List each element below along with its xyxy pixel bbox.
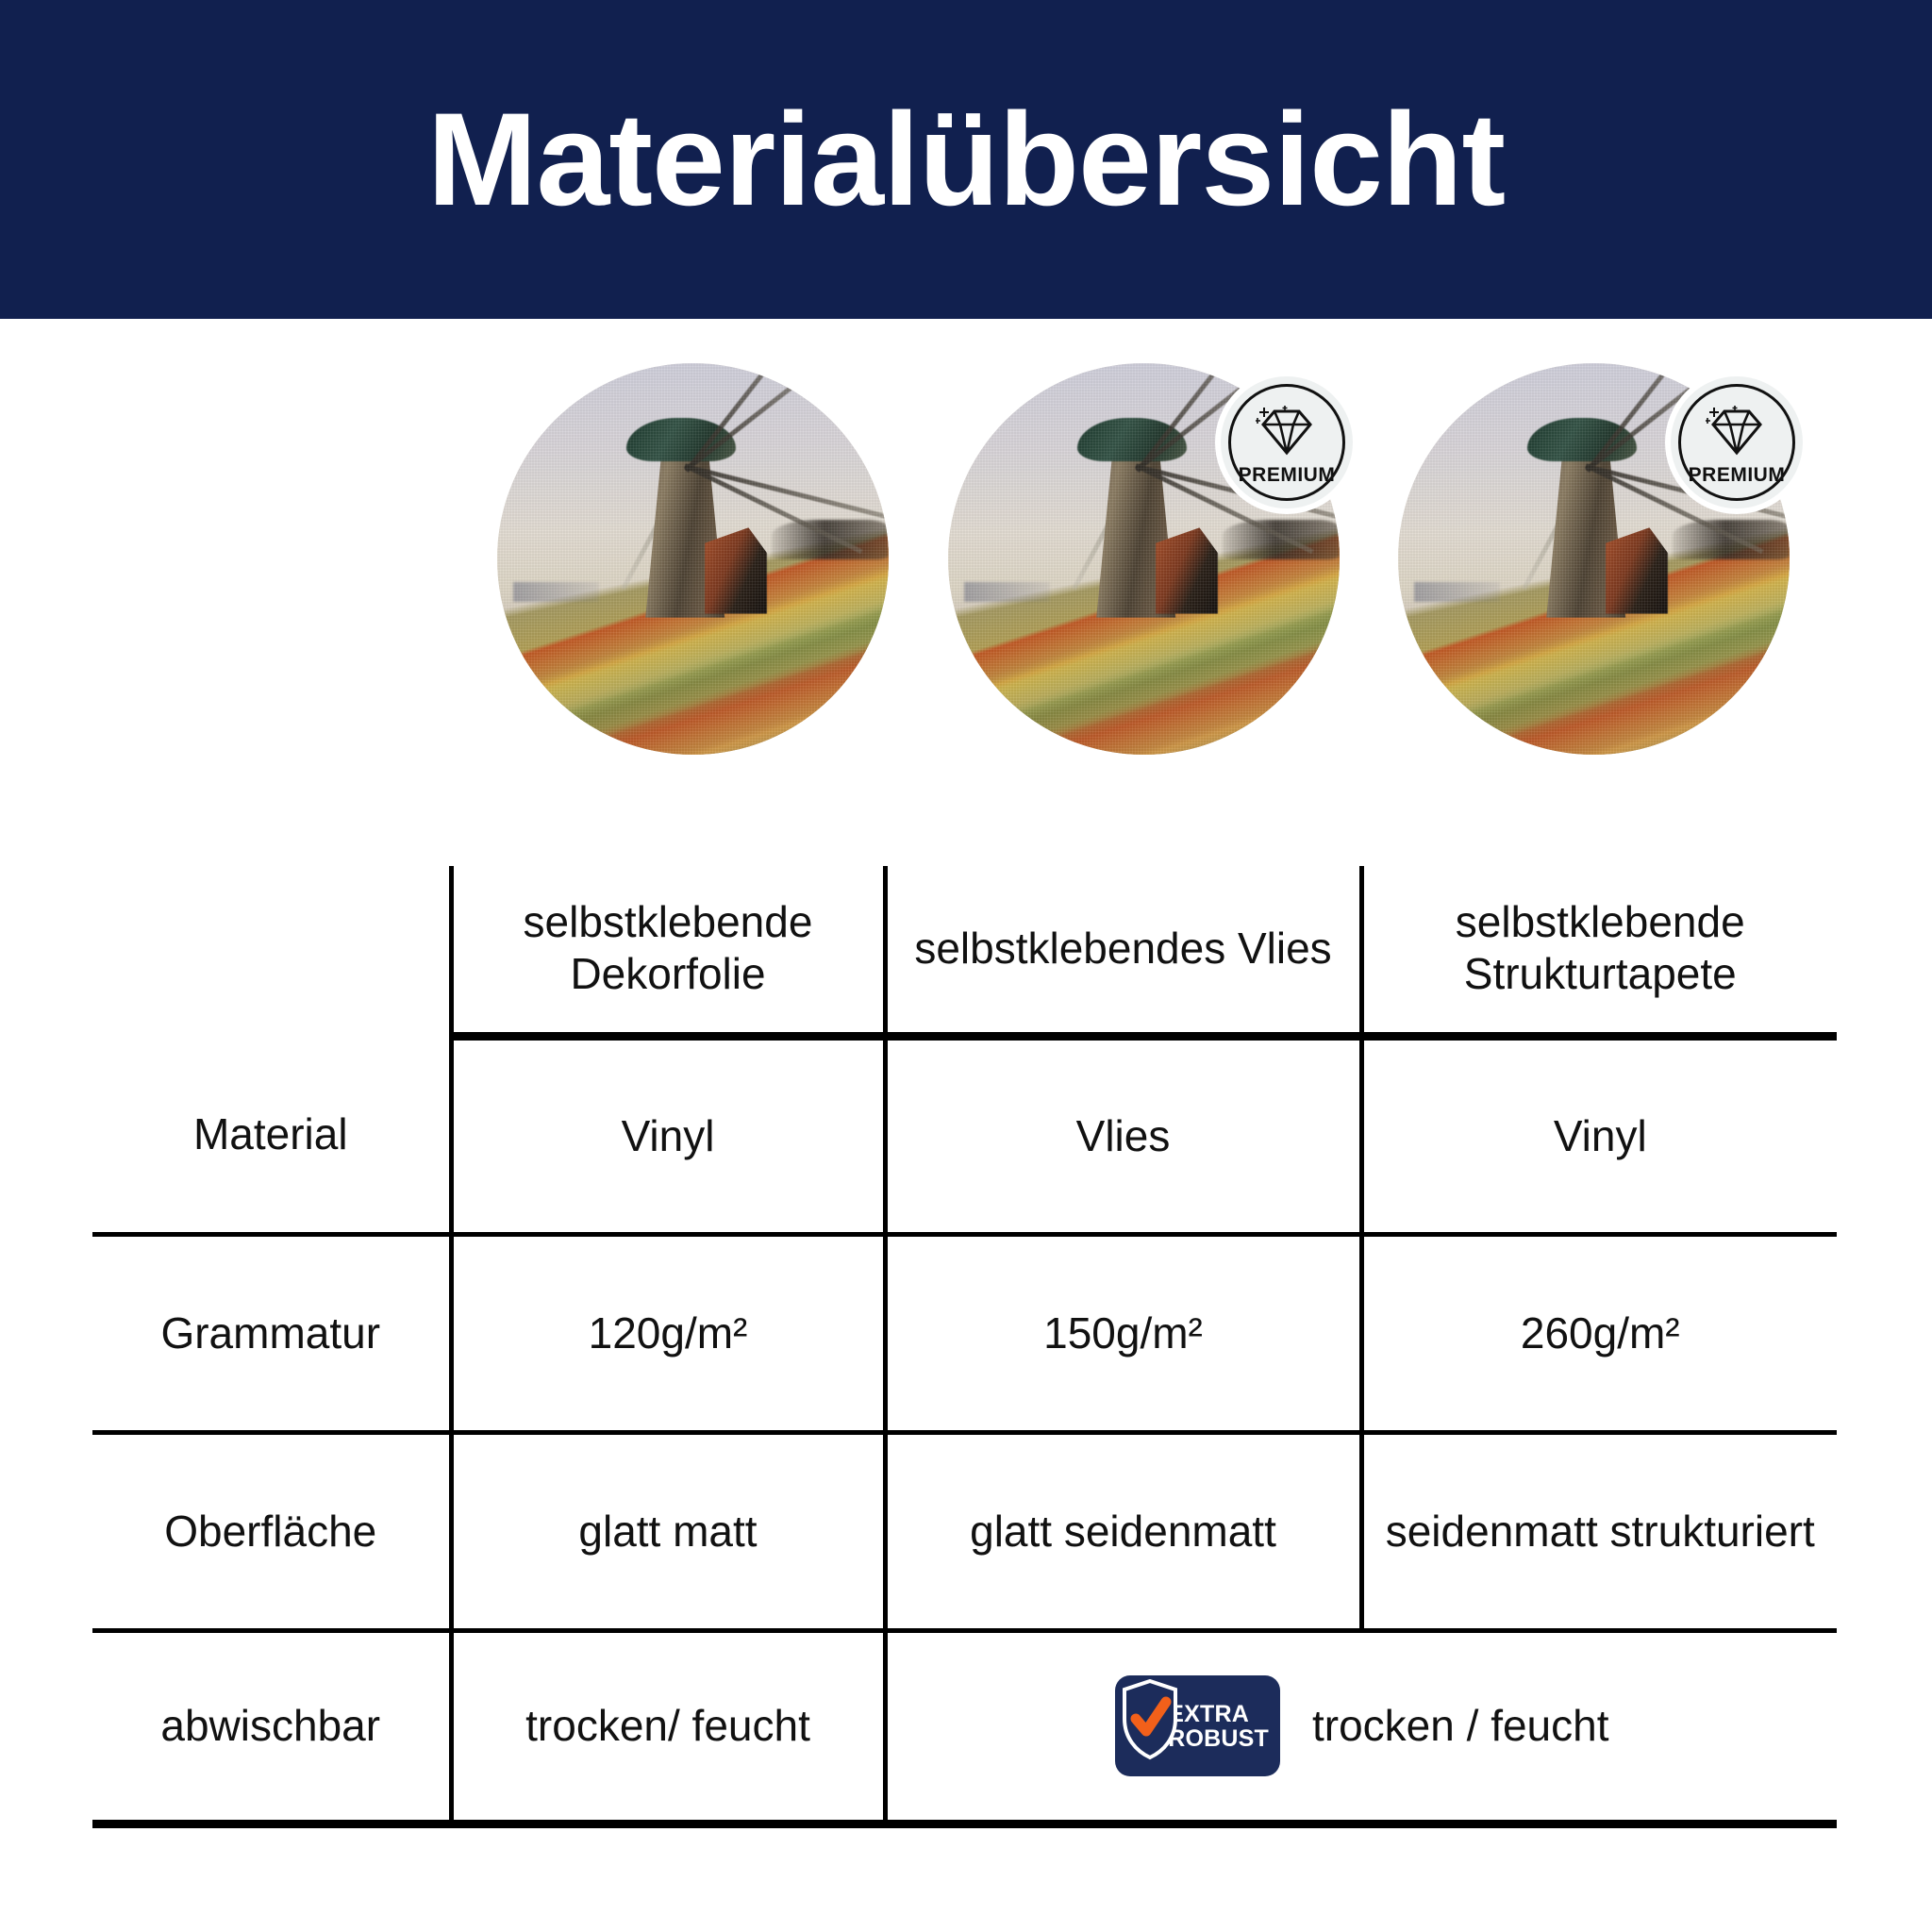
row-label-abwischbar: abwischbar (92, 1630, 451, 1824)
table-header-row: selbstklebende Dekorfolie selbstklebende… (92, 866, 1837, 1036)
mill-body (1543, 441, 1629, 618)
cell-oberflaeche-vlies: glatt seidenmatt (885, 1432, 1361, 1630)
horizon-detail (513, 582, 599, 602)
cell-text-line1: trocken/ feucht (463, 1700, 874, 1751)
cell-grammatur-strukturtapete: 260g/m² (1361, 1234, 1837, 1432)
row-label-material: Material (92, 1036, 451, 1234)
robust-line-1: EXTRA (1168, 1702, 1269, 1726)
extra-robust-badge: EXTRA ROBUST (1115, 1675, 1280, 1776)
premium-badge-strukturtapete: PREMIUM (1665, 371, 1808, 514)
header-cell-vlies: selbstklebendes Vlies (885, 866, 1361, 1036)
hedge-detail (1223, 520, 1341, 559)
mill-cap (626, 418, 736, 461)
mill-blade (685, 464, 889, 524)
swatch-row (0, 363, 1932, 759)
mill-blade (672, 464, 690, 593)
mill-cap (1527, 418, 1637, 461)
table-row-abwischbar: abwischbar trocken/ feucht EXTRA (92, 1630, 1837, 1824)
artwork-windmill-1 (497, 363, 889, 755)
cell-material-dekorfolie: Vinyl (451, 1036, 885, 1234)
badge-ring (1228, 384, 1345, 501)
table-row-grammatur: Grammatur 120g/m² 150g/m² 260g/m² (92, 1234, 1837, 1432)
hedge-detail (772, 520, 890, 559)
badge-ring (1678, 384, 1795, 501)
cell-material-strukturtapete: Vinyl (1361, 1036, 1837, 1234)
mill-blade (1072, 464, 1142, 591)
table-row-oberflaeche: Oberfläche glatt matt glatt seidenmatt s… (92, 1432, 1837, 1630)
horizon-detail (964, 582, 1050, 602)
cell-oberflaeche-strukturtapete: seidenmatt strukturiert (1361, 1432, 1837, 1630)
mill-shed (1156, 527, 1218, 613)
page-title: Materialübersicht (427, 93, 1505, 225)
row-label-oberflaeche: Oberfläche (92, 1432, 451, 1630)
mill-cap (1077, 418, 1187, 461)
mill-body (642, 441, 728, 618)
table-row-material: Material Vinyl Vlies Vinyl (92, 1036, 1837, 1234)
premium-badge-vlies: PREMIUM (1215, 371, 1358, 514)
horizon-detail (1414, 582, 1500, 602)
row-label-grammatur: Grammatur (92, 1234, 451, 1432)
material-overview-page: Materialübersicht (0, 0, 1932, 1932)
mill-blade (621, 464, 691, 591)
hedge-detail (1673, 520, 1790, 559)
robust-line-2: ROBUST (1168, 1726, 1269, 1751)
mill-blade (1522, 464, 1592, 591)
mill-blade (685, 363, 848, 472)
mill-blade (685, 463, 863, 553)
header-cell-empty (92, 866, 451, 1036)
cell-grammatur-vlies: 150g/m² (885, 1234, 1361, 1432)
material-comparison-table: selbstklebende Dekorfolie selbstklebende… (92, 866, 1837, 1828)
mill-blade (1123, 464, 1141, 593)
mill-shed (705, 527, 767, 613)
cell-abwischbar-dekorfolie: trocken/ feucht (451, 1630, 885, 1824)
header-cell-dekorfolie: selbstklebende Dekorfolie (451, 866, 885, 1036)
cell-oberflaeche-dekorfolie: glatt matt (451, 1432, 885, 1630)
cell-grammatur-dekorfolie: 120g/m² (451, 1234, 885, 1432)
mill-shed (1606, 527, 1668, 613)
cell-abwischbar-merged: EXTRA ROBUST trocken / feucht (885, 1630, 1837, 1824)
cell-abwischbar-merged-text: trocken / feucht (1312, 1700, 1609, 1751)
shield-check-icon (1121, 1679, 1179, 1760)
mill-blade (1573, 464, 1591, 593)
mill-blade (685, 363, 828, 473)
page-header: Materialübersicht (0, 0, 1932, 319)
swatch-dekorfolie[interactable] (497, 363, 889, 755)
cell-material-vlies: Vlies (885, 1036, 1361, 1234)
header-cell-strukturtapete: selbstklebende Strukturtapete (1361, 866, 1837, 1036)
mill-body (1093, 441, 1179, 618)
